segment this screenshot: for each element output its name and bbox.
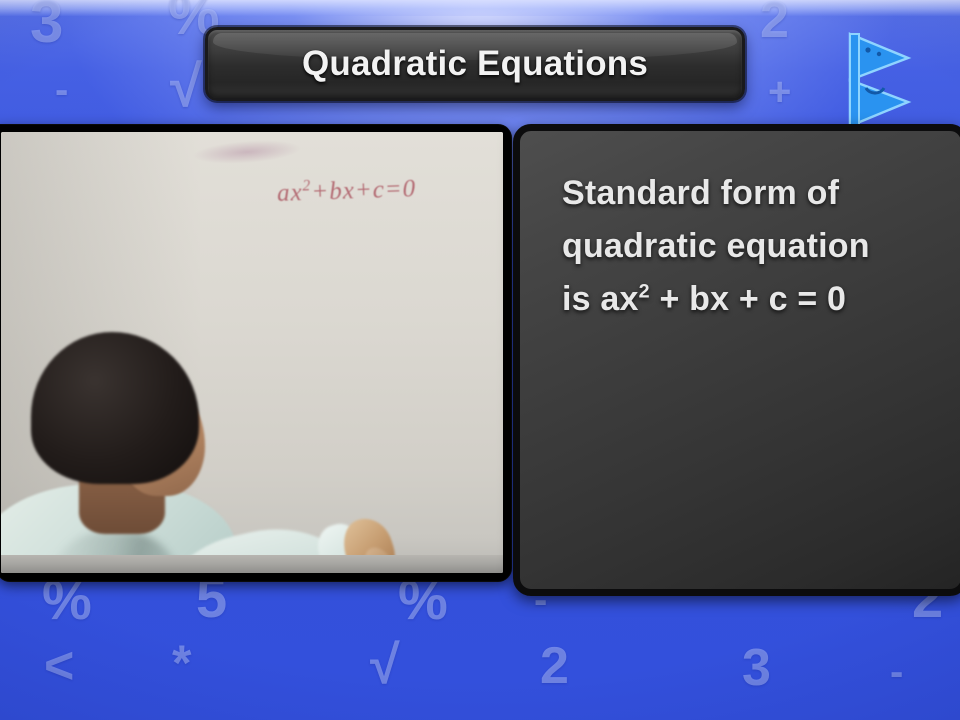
explanation-line-3: is ax2 + bx + c = 0 (562, 273, 947, 326)
page-title: Quadratic Equations (302, 44, 648, 84)
background-glyph: 2 (760, 0, 789, 46)
lesson-slide: 3%-√+2%5%-2<*√23- Quadratic Equations ax… (0, 0, 960, 720)
explanation-panel: Standard form of quadratic equation is a… (513, 124, 960, 596)
title-plaque: Quadratic Equations (205, 27, 745, 101)
explanation-text: Standard form of quadratic equation is a… (562, 167, 947, 326)
explanation-line-1: Standard form of (562, 167, 947, 220)
background-glyph: - (55, 70, 68, 110)
whiteboard-ledge (1, 555, 503, 573)
background-glyph: 3 (742, 642, 771, 694)
background-glyph: 2 (540, 640, 569, 692)
lecture-video-panel[interactable]: ax2+bx+c=0 (0, 124, 512, 582)
background-glyph: * (172, 638, 191, 688)
zigzag-e-logo (846, 30, 912, 135)
whiteboard-handwritten-equation: ax2+bx+c=0 (277, 174, 417, 208)
background-glyph: √ (170, 58, 202, 116)
video-frame: ax2+bx+c=0 (1, 132, 503, 573)
background-top-highlight (0, 0, 960, 16)
background-glyph: - (890, 652, 903, 692)
background-glyph: 3 (30, 0, 63, 52)
background-glyph: + (768, 72, 791, 112)
explanation-line-2: quadratic equation (562, 220, 947, 273)
background-glyph: √ (370, 638, 400, 692)
background-glyph: < (44, 640, 74, 692)
